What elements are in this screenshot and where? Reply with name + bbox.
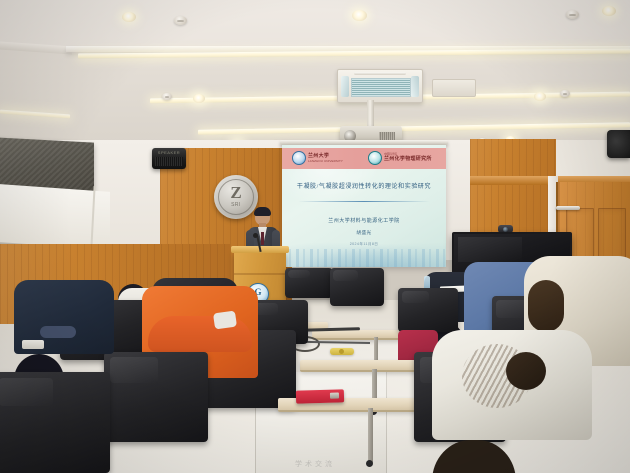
- chair: [398, 288, 458, 332]
- person-badge: [22, 340, 44, 349]
- logo-left-en: LANZHOU UNIVERSITY: [308, 160, 343, 163]
- display-glare: [458, 237, 522, 262]
- slide-divider: [298, 201, 430, 202]
- speaker-brand-label: SPEAKER: [152, 150, 186, 155]
- person-ponytail: [528, 280, 564, 332]
- folder-clip: [330, 393, 339, 399]
- slide-decorative-artwork: [282, 237, 446, 267]
- presenter-hair: [254, 207, 271, 216]
- smoke-detector-icon: [560, 90, 570, 97]
- emblem-monogram: Z: [214, 184, 258, 201]
- watermark-text: 学术交流: [0, 459, 630, 469]
- smoke-detector-icon: [174, 16, 187, 25]
- lecture-hall-photo: Z SRI SPEAKER 兰州大学 LANZHOU UNIVERSITY: [0, 0, 630, 473]
- ac-vane-right: [411, 76, 419, 97]
- logo-left-cn: 兰州大学: [308, 154, 343, 159]
- chair: [285, 268, 333, 298]
- ac-bar: [354, 72, 406, 75]
- slide-presenter-name: 胡盛光: [288, 230, 440, 236]
- slide-logo-right: 中国科学院 兰州化学物理研究所: [368, 151, 432, 165]
- cable-protector: [330, 348, 354, 355]
- projection-screen: 兰州大学 LANZHOU UNIVERSITY 中国科学院 兰州化学物理研究所 …: [282, 145, 446, 267]
- projector-vent: [379, 132, 395, 140]
- logo-right-cn: 兰州化学物理研究所: [384, 157, 432, 162]
- ceiling: [0, 0, 630, 152]
- wall-speaker: [607, 130, 630, 158]
- downlight-icon: [193, 94, 205, 103]
- person-collar: [40, 326, 76, 338]
- smoke-detector-icon: [162, 93, 172, 100]
- downlight-icon: [352, 10, 367, 21]
- person-hair-bun: [506, 352, 546, 390]
- speaker-grille: [155, 157, 183, 166]
- slide-organization: 兰州大学材料与能源化工学院: [288, 217, 440, 224]
- licp-logo-icon: [368, 151, 382, 165]
- microphone-icon: [253, 233, 258, 238]
- wall-speaker: SPEAKER: [152, 148, 186, 169]
- desk-leg: [368, 408, 373, 463]
- ac-grille: [351, 78, 411, 97]
- projector-mount-pole: [367, 100, 374, 128]
- audience-person: [432, 330, 592, 473]
- presenter-tie: [261, 232, 264, 245]
- lanzhou-university-logo-icon: [292, 151, 306, 165]
- podium-seam: [234, 273, 286, 275]
- downlight-icon: [122, 12, 136, 22]
- smoke-detector-icon: [566, 10, 579, 19]
- slide-artwork-silhouette: [282, 249, 446, 267]
- ceiling-air-vent: [432, 79, 476, 97]
- red-folder: [296, 389, 344, 403]
- slide-title: 干凝胶/气凝胶超浸润性转化的理论和实验研究: [288, 183, 440, 191]
- chair: [104, 352, 208, 442]
- ac-vane-left: [341, 76, 349, 97]
- face-mask-icon: [213, 311, 237, 330]
- slide-header-band: 兰州大学 LANZHOU UNIVERSITY 中国科学院 兰州化学物理研究所: [282, 148, 446, 169]
- slide-logo-left: 兰州大学 LANZHOU UNIVERSITY: [292, 151, 343, 165]
- downlight-icon: [534, 92, 546, 101]
- chair: [0, 372, 110, 473]
- chair: [330, 268, 384, 306]
- ceiling-air-conditioner: [337, 69, 423, 103]
- door-handle-icon[interactable]: [556, 206, 580, 210]
- downlight-icon: [602, 6, 616, 16]
